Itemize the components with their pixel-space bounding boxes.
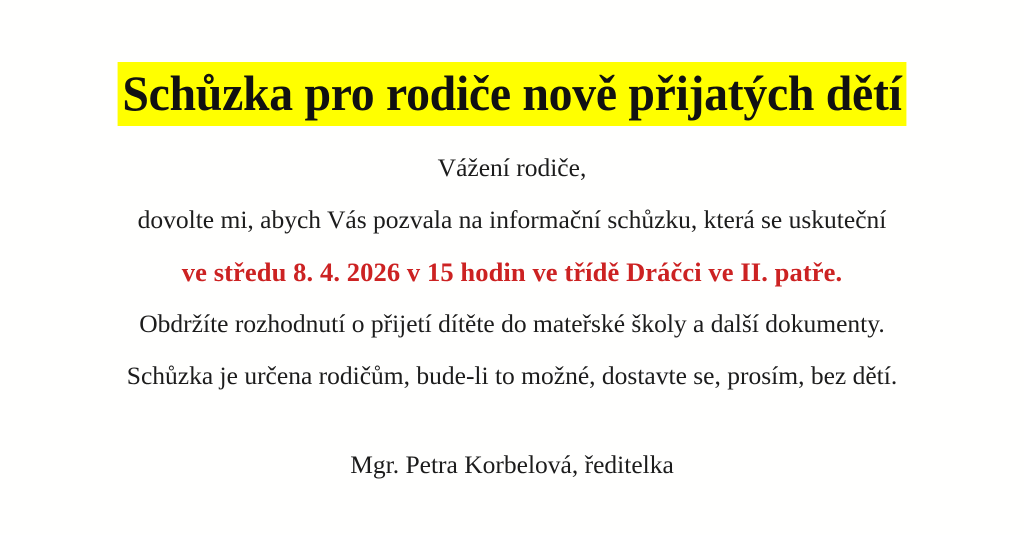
salutation-line: Vážení rodiče,	[0, 142, 1024, 194]
invitation-line: dovolte mi, abych Vás pozvala na informa…	[0, 194, 1024, 246]
documents-info-line: Obdržíte rozhodnutí o přijetí dítěte do …	[0, 298, 1024, 350]
signature-row: Mgr. Petra Korbelová, ředitelka	[0, 449, 1024, 481]
page-title: Schůzka pro rodiče nově přijatých dětí	[118, 62, 907, 126]
meeting-details-line: ve středu 8. 4. 2026 v 15 hodin ve třídě…	[0, 246, 1024, 298]
announcement-poster: Schůzka pro rodiče nově přijatých dětí V…	[0, 0, 1024, 535]
poster-title-row: Schůzka pro rodiče nově přijatých dětí	[0, 62, 1024, 126]
attendance-note-line: Schůzka je určena rodičům, bude-li to mo…	[0, 350, 1024, 402]
signature-name: Mgr. Petra Korbelová, ředitelka	[350, 450, 674, 479]
poster-body: Vážení rodiče, dovolte mi, abych Vás poz…	[0, 142, 1024, 402]
